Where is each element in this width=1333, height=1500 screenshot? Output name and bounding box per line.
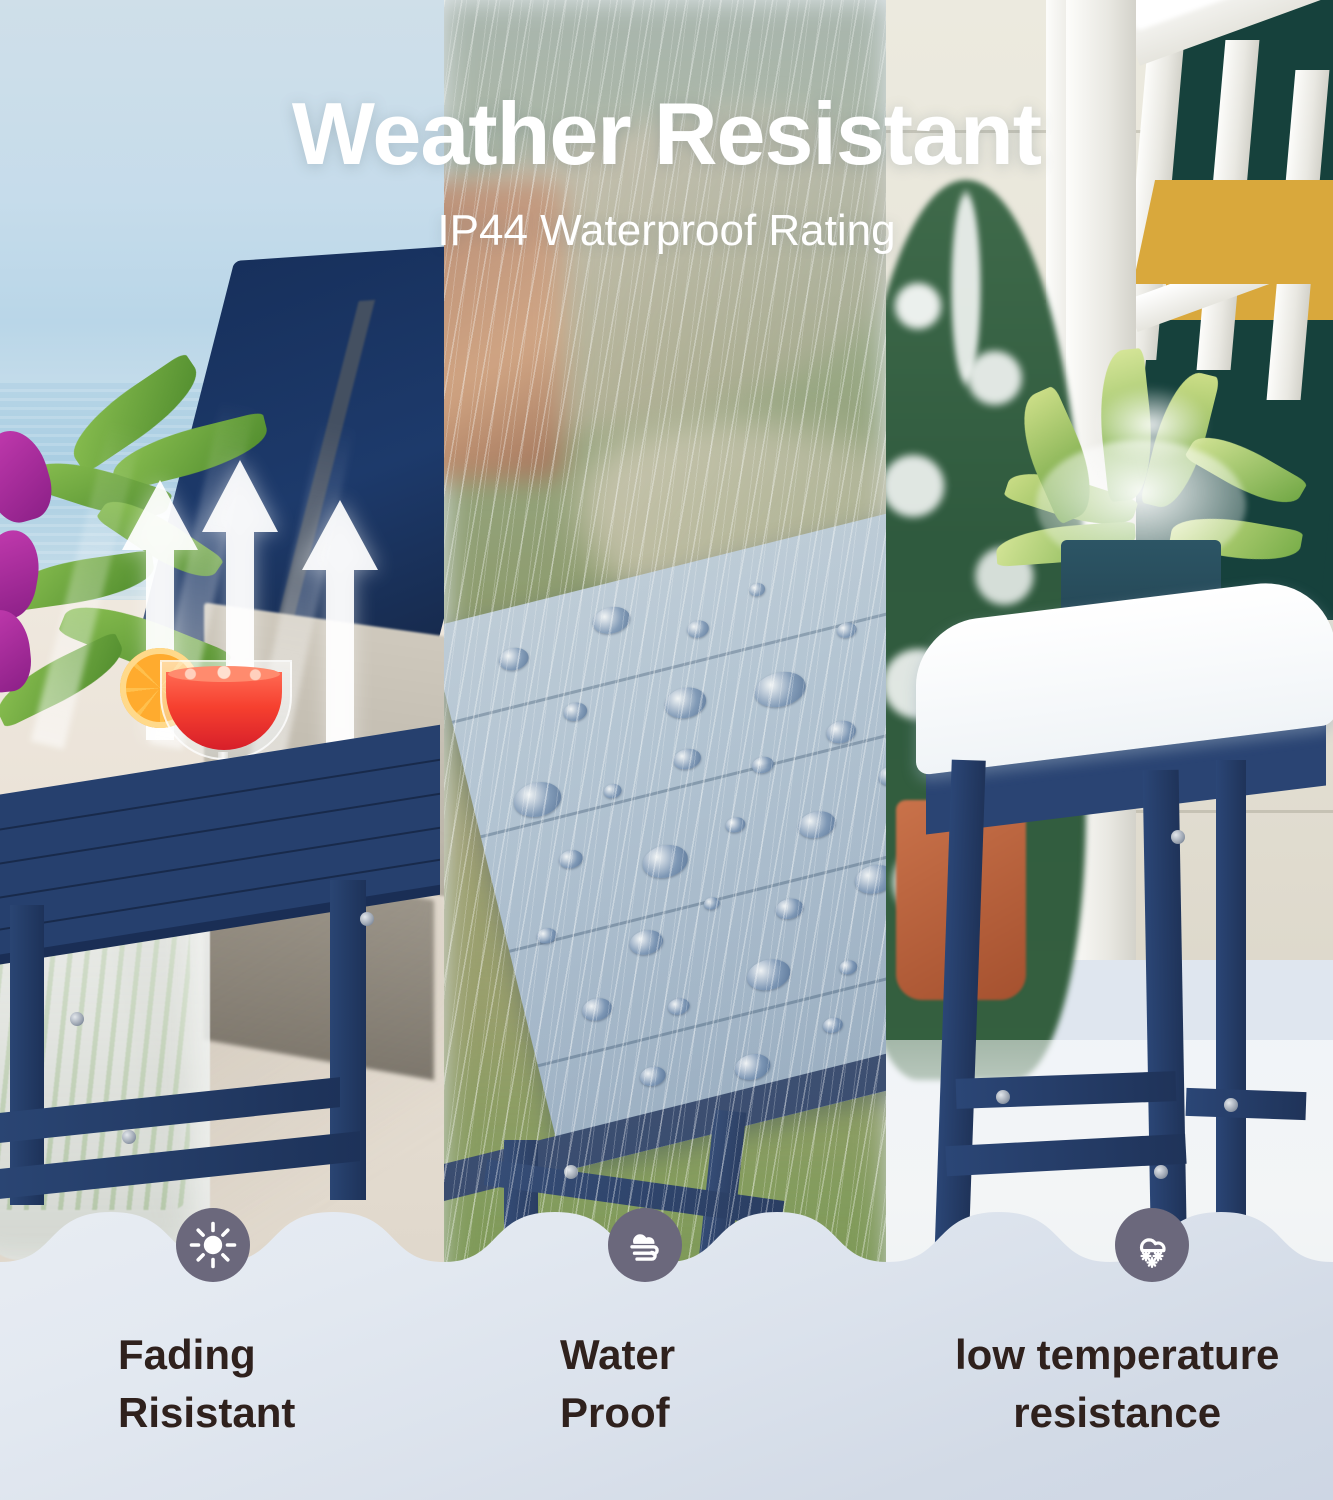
- snow-on-plant: [1091, 385, 1211, 465]
- table-stretcher: [1186, 1088, 1307, 1120]
- feature-fading-resistant: Fading Risistant: [118, 1208, 295, 1442]
- feature-label-line2: resistance: [955, 1384, 1279, 1442]
- sun-icon: [176, 1208, 250, 1282]
- feature-water-proof: Water Proof: [560, 1208, 682, 1442]
- screw-head: [70, 1012, 84, 1026]
- feature-label: Fading Risistant: [118, 1326, 295, 1442]
- page-title: Weather Resistant: [0, 88, 1333, 180]
- page-subtitle: IP44 Waterproof Rating: [0, 206, 1333, 256]
- table-leg: [10, 905, 44, 1205]
- cloud-snow-icon: [1115, 1208, 1189, 1282]
- screw-head: [1171, 830, 1185, 844]
- cloud-wind-icon: [608, 1208, 682, 1282]
- feature-label-line1: low temperature: [955, 1326, 1279, 1384]
- headline-block: Weather Resistant IP44 Waterproof Rating: [0, 88, 1333, 256]
- drink-foam: [168, 666, 280, 682]
- feature-label: low temperature resistance: [955, 1326, 1279, 1442]
- feature-label-line2: Proof: [560, 1384, 682, 1442]
- feature-strip: Fading Risistant Water: [0, 1170, 1333, 1500]
- feature-label-line1: Fading: [118, 1326, 295, 1384]
- feature-list: Fading Risistant Water: [0, 1170, 1333, 1500]
- screw-head: [360, 912, 374, 926]
- feature-label-line1: Water: [560, 1326, 682, 1384]
- infographic-canvas: Weather Resistant IP44 Waterproof Rating: [0, 0, 1333, 1500]
- screw-head: [996, 1090, 1010, 1104]
- screw-head: [122, 1130, 136, 1144]
- feature-label: Water Proof: [560, 1326, 682, 1442]
- feature-low-temperature-resistance: low temperature resistance: [955, 1208, 1279, 1442]
- feature-label-line2: Risistant: [118, 1384, 295, 1442]
- screw-head: [1224, 1098, 1238, 1112]
